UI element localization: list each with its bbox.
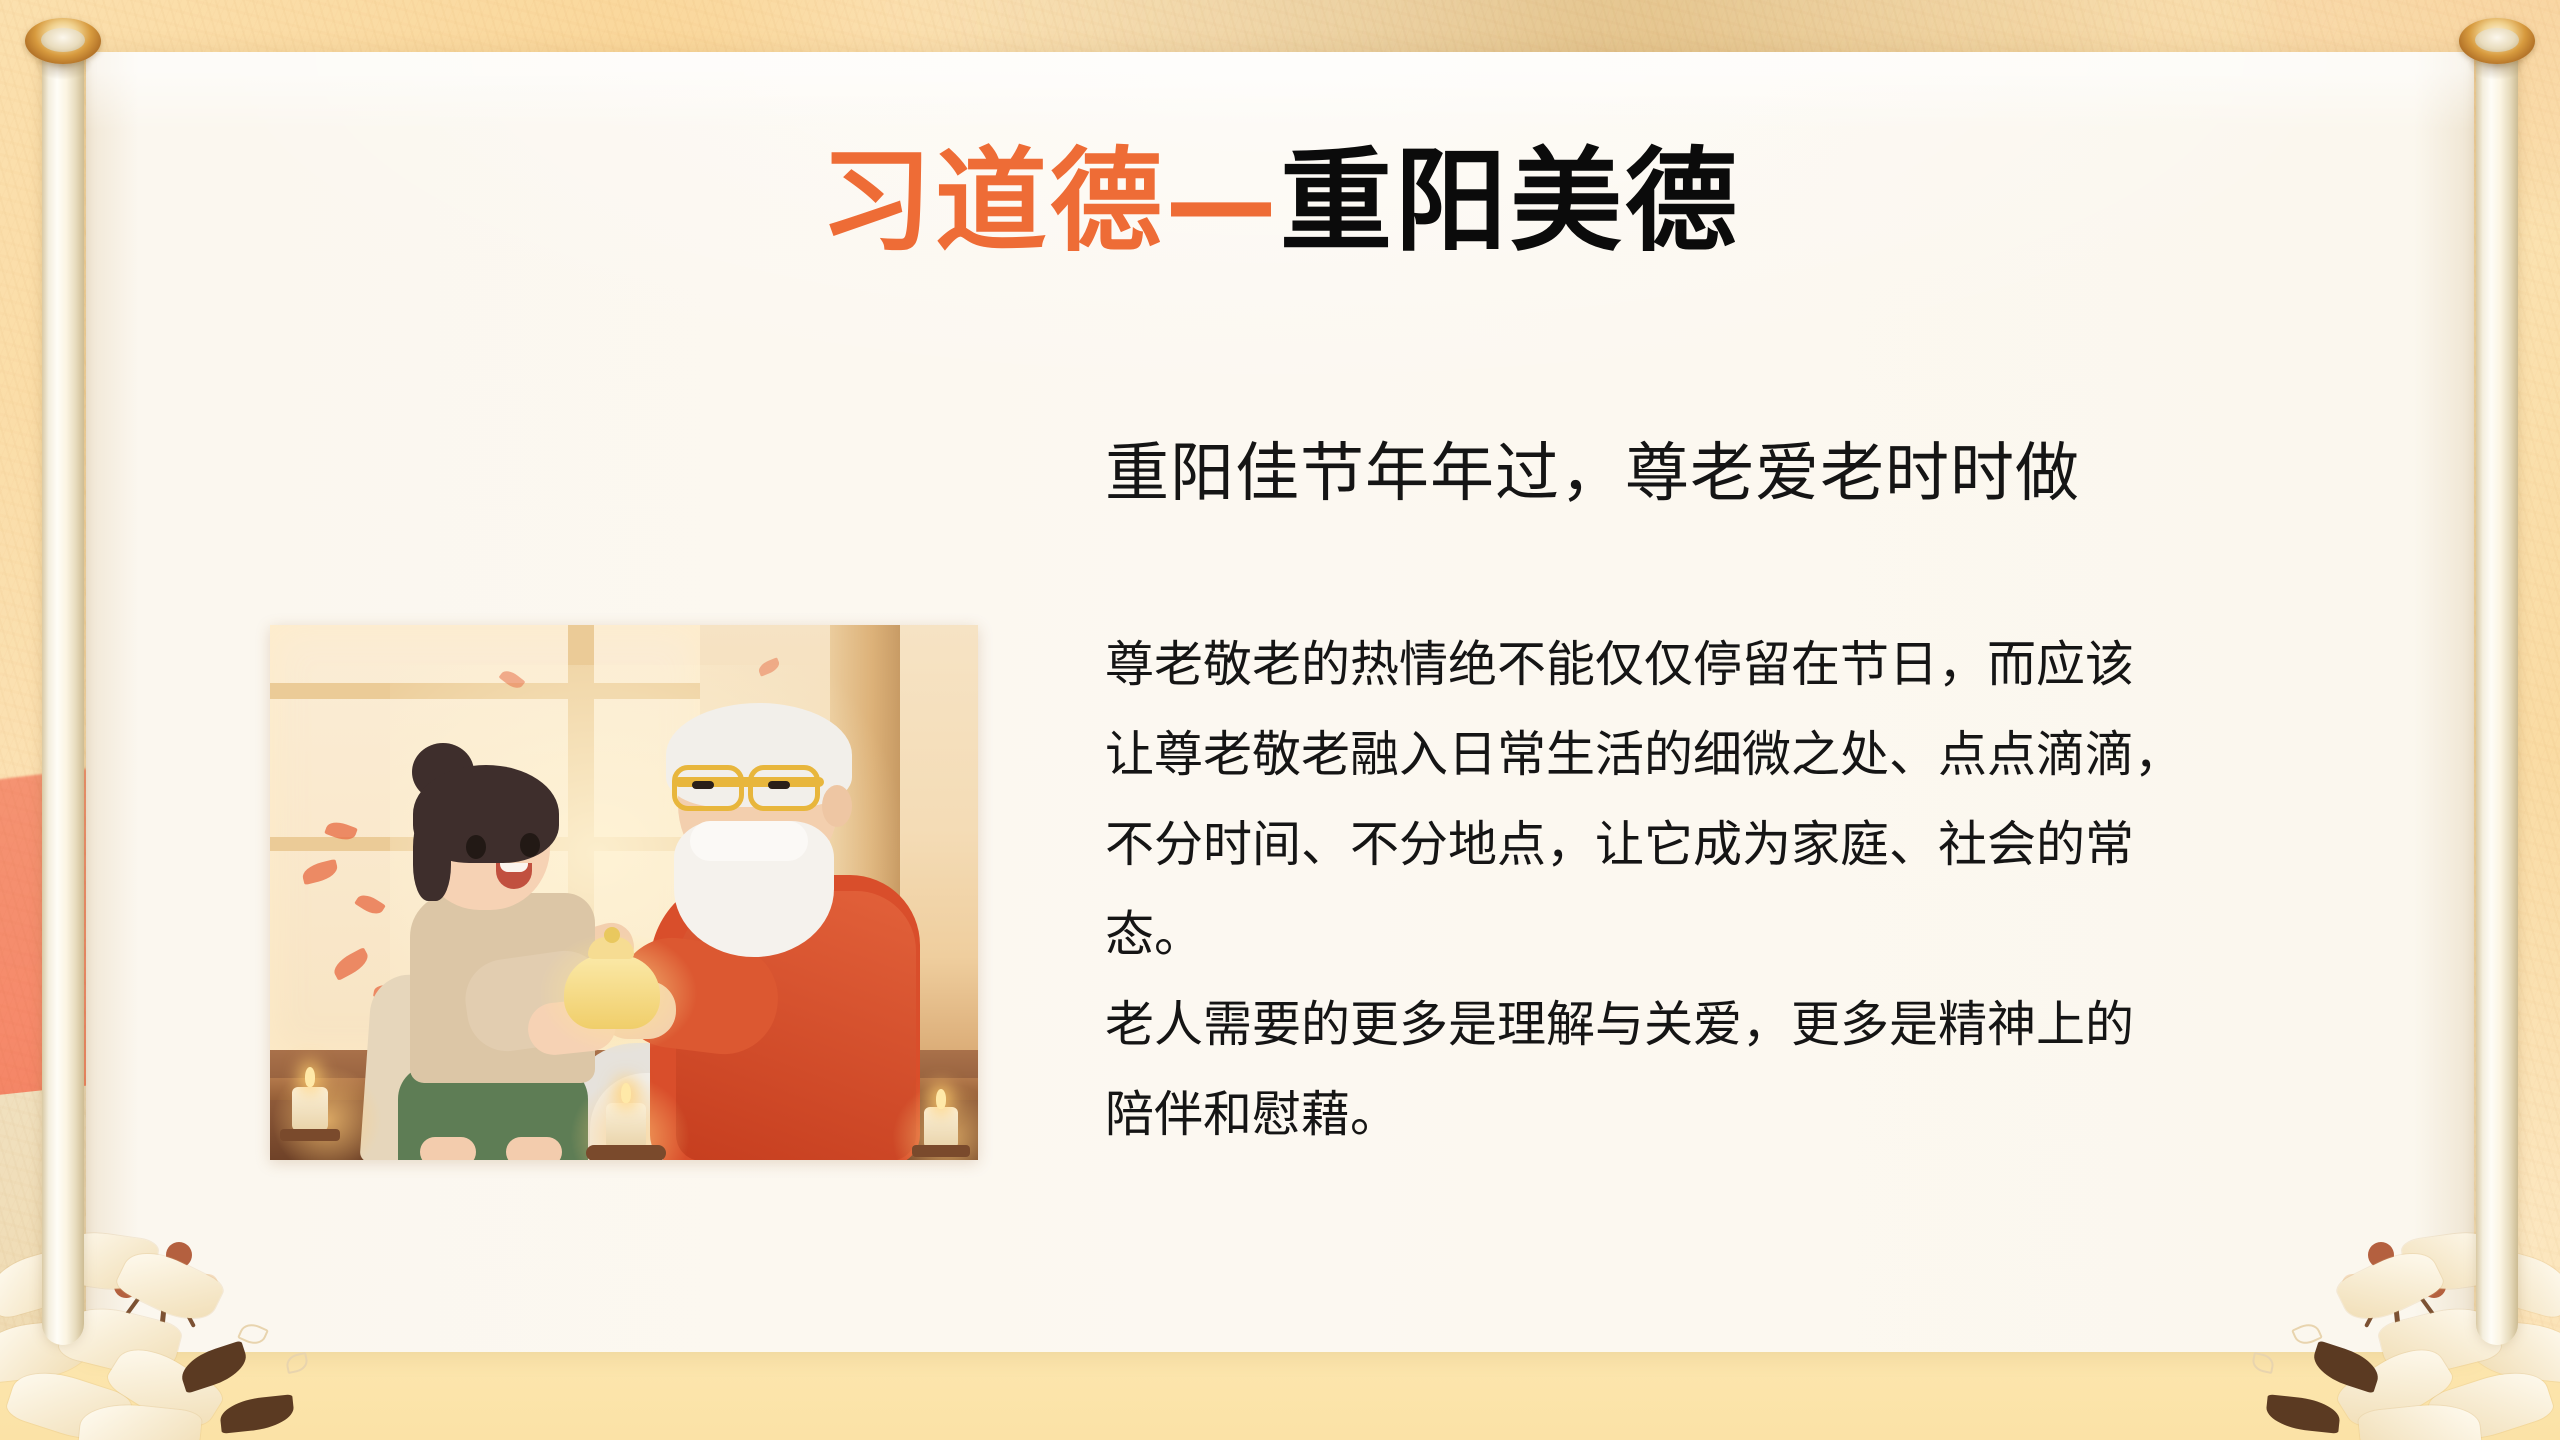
floating-petal-icon [2250,1352,2275,1374]
photo-candle-base [280,1129,340,1141]
photo-candle [292,1087,328,1131]
photo-candle-base [586,1145,666,1160]
body-line: 态。 [1105,890,2405,980]
photo-candle-flame [936,1089,946,1109]
body-line: 老人需要的更多是理解与关爱，更多是精神上的 [1105,980,2405,1070]
title-black-text: 重阳美德 [1280,137,1740,267]
body-paragraph-1: 尊老敬老的热情绝不能仅仅停留在节日，而应该 让尊老敬老融入日常生活的细微之处、点… [1105,620,2405,980]
photo-candle [606,1103,646,1149]
body-text: 尊老敬老的热情绝不能仅仅停留在节日，而应该 让尊老敬老融入日常生活的细微之处、点… [1105,620,2405,1160]
photo-elder-eye [692,781,714,789]
page-title: 习道德—重阳美德 [0,146,2560,258]
body-line: 让尊老敬老融入日常生活的细微之处、点点滴滴， [1105,710,2405,800]
illustration-photo [270,625,978,1160]
photo-teapot [564,955,660,1029]
scroll-rod-cap-left [25,18,101,64]
body-line: 不分时间、不分地点，让它成为家庭、社会的常 [1105,800,2405,890]
photo-child-hair-side [413,811,451,901]
title-orange-text: 习道德 [820,137,1165,267]
photo-child-foot [420,1137,476,1160]
photo-teapot-knob [604,927,620,943]
photo-elder-eye [768,781,790,789]
floating-petal-icon [284,1352,309,1374]
photo-candle-flame [621,1083,631,1103]
photo-candle-base [912,1145,970,1157]
body-line: 陪伴和慰藉。 [1105,1070,2405,1160]
photo-child-eye [520,833,540,857]
title-dash: — [1165,137,1280,267]
body-line: 尊老敬老的热情绝不能仅仅停留在节日，而应该 [1105,620,2405,710]
background-bottom-band [0,1350,2560,1440]
photo-child-eye [466,835,486,859]
section-subtitle: 重阳佳节年年过，尊老爱老时时做 [1105,438,2385,508]
photo-child-foot [506,1137,562,1160]
scroll-rod-left [42,40,84,1345]
photo-candle-flame [305,1067,315,1087]
slide-root: 习道德—重阳美德 [0,0,2560,1440]
scroll-rod-cap-right [2459,18,2535,64]
body-paragraph-2: 老人需要的更多是理解与关爱，更多是精神上的 陪伴和慰藉。 [1105,980,2405,1160]
photo-elder-moustache [690,821,808,861]
scroll-rod-right [2476,40,2518,1345]
photo-elder-ear [822,785,852,827]
photo-candle [924,1107,958,1149]
